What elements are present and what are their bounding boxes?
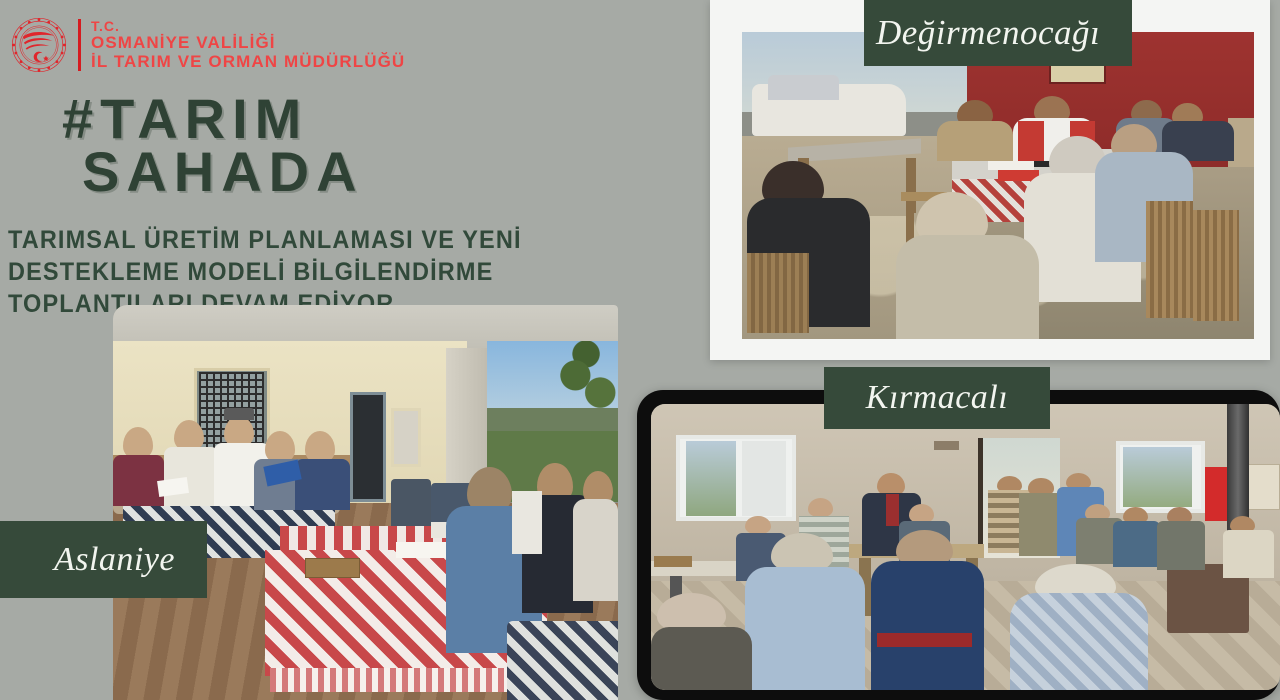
- photo-aslaniye-scene: [113, 305, 618, 700]
- headline: #TARIM SAHADA: [62, 92, 682, 198]
- brand-divider: [78, 19, 81, 71]
- brand-text: T.C. OSMANİYE VALİLİĞİ İL TARIM VE ORMAN…: [91, 19, 405, 71]
- photo-degirmenocagi: [742, 32, 1254, 339]
- poster-canvas: T.C. OSMANİYE VALİLİĞİ İL TARIM VE ORMAN…: [0, 0, 1280, 700]
- photo-aslaniye: [113, 305, 618, 700]
- brand-line-governorship: OSMANİYE VALİLİĞİ: [91, 34, 405, 52]
- headline-line-2: SAHADA: [62, 145, 682, 198]
- photo-kirmacali: [651, 404, 1280, 690]
- photo-label-degirmenocagi: Değirmenocağı: [864, 0, 1132, 66]
- photo-degirmenocagi-scene: [742, 32, 1254, 339]
- turkish-republic-emblem-icon: [10, 16, 68, 74]
- brand-line-tc: T.C.: [91, 19, 405, 34]
- brand-header: T.C. OSMANİYE VALİLİĞİ İL TARIM VE ORMAN…: [10, 16, 405, 74]
- photo-label-kirmacali: Kırmacalı: [824, 367, 1050, 429]
- brand-line-directorate: İL TARIM VE ORMAN MÜDÜRLÜĞÜ: [91, 53, 405, 71]
- photo-kirmacali-scene: [651, 404, 1280, 690]
- photo-label-aslaniye: Aslaniye: [0, 521, 207, 598]
